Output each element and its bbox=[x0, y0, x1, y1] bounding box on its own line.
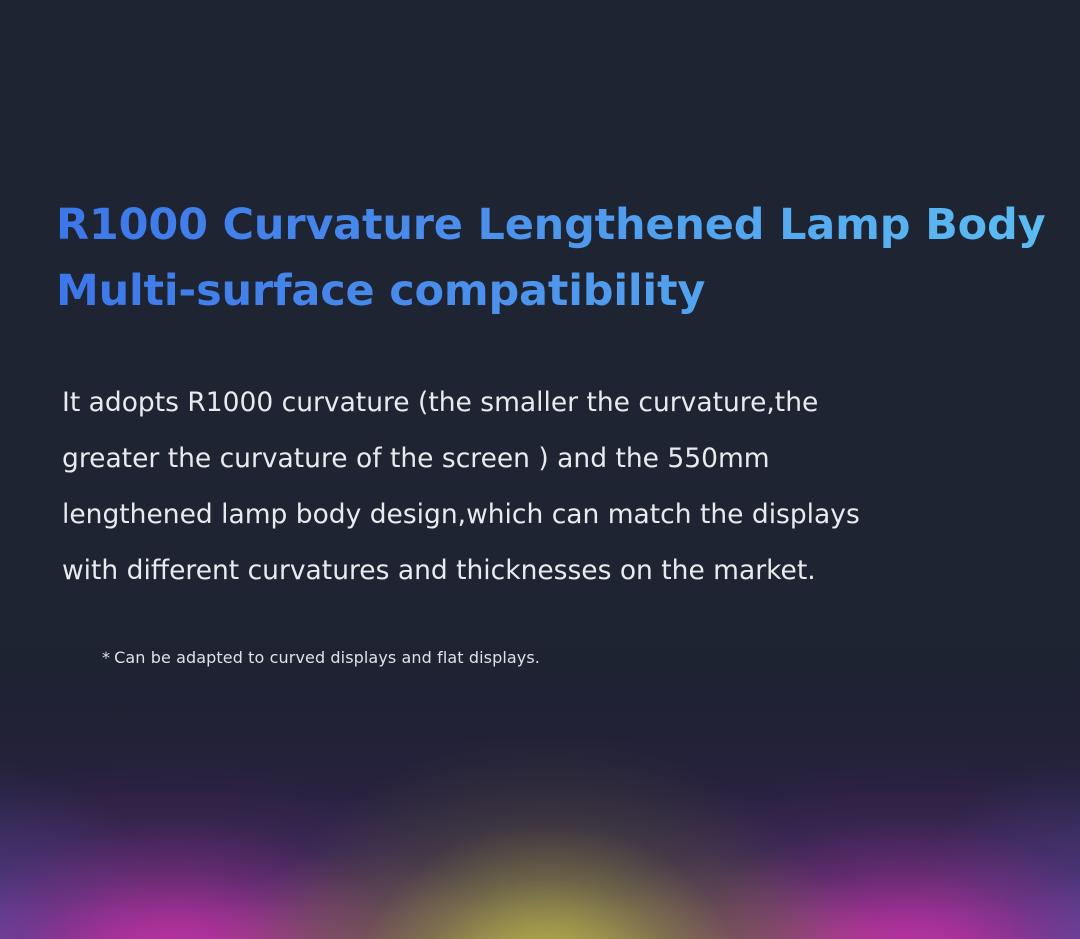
footnote-text: Can be adapted to curved displays and fl… bbox=[114, 648, 540, 667]
description-paragraph: It adopts R1000 curvature (the smaller t… bbox=[62, 375, 1052, 599]
footnote: *Can be adapted to curved displays and f… bbox=[102, 646, 540, 670]
page-title: R1000 Curvature Lengthened Lamp Body Mul… bbox=[56, 192, 1056, 324]
product-feature-banner: R1000 Curvature Lengthened Lamp Body Mul… bbox=[0, 0, 1080, 939]
asterisk-icon: * bbox=[102, 648, 110, 667]
